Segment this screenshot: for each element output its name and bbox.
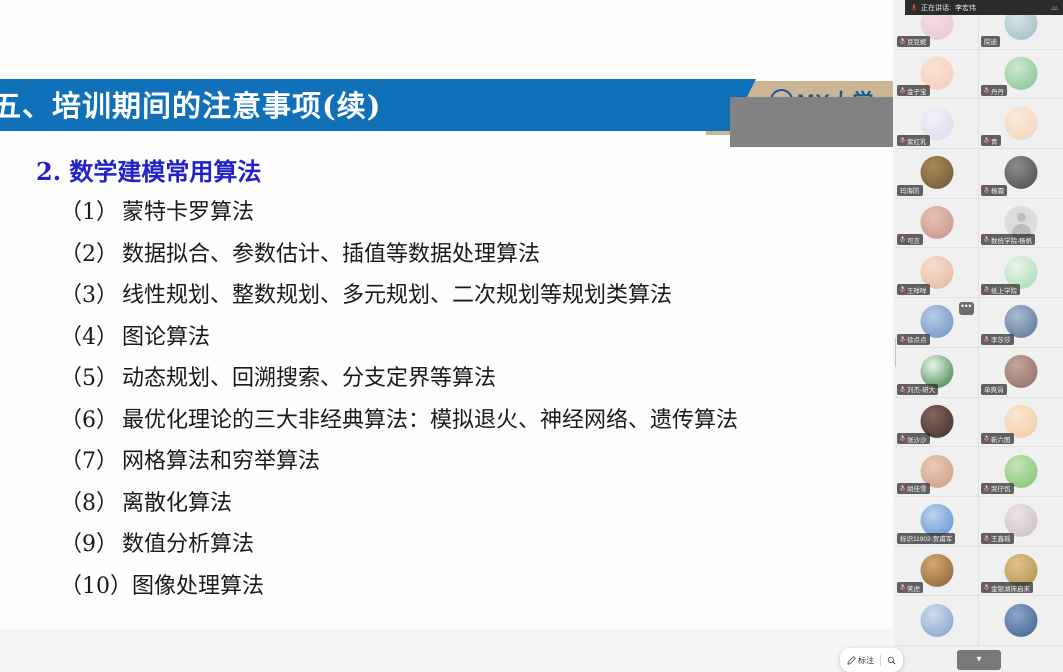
participant-name-badge: 徐点点: [897, 334, 930, 345]
slide-title-bar: 五、培训期间的注意事项(续): [0, 79, 730, 131]
participant-name: 院迪: [984, 36, 997, 46]
participant-name: 李莎莎: [991, 334, 1011, 344]
mic-muted-icon: [900, 236, 905, 243]
participant-name: 张沙沙: [907, 434, 927, 444]
mic-muted-icon: [984, 435, 989, 442]
algorithm-item: （9）数值分析算法: [60, 524, 880, 566]
participant-name: 单爽涓: [984, 384, 1004, 394]
algorithm-item: （5）动态规划、回溯搜索、分支定界等算法: [60, 358, 880, 400]
participant-name: 王鑫瑶: [991, 533, 1011, 543]
algorithm-item-text: 离散化算法: [122, 491, 232, 516]
participant-name-badge: 数统学院-杨帆: [981, 234, 1035, 245]
participant-name: 玛海防: [900, 185, 920, 195]
participant-tile[interactable]: 玛海防: [895, 149, 979, 199]
participant-tile[interactable]: 数统学院-杨帆: [979, 199, 1063, 249]
participant-name-badge: 单爽涓: [981, 384, 1007, 395]
participant-name-badge: 王鑫瑶: [981, 533, 1014, 544]
algorithm-item-number: （2）: [60, 234, 122, 276]
algorithm-item: （8）离散化算法: [60, 483, 880, 525]
participant-name-badge: 丹丹: [981, 85, 1007, 96]
sidebar-collapse-handle[interactable]: ›: [895, 338, 896, 367]
algorithm-item-text: 数值分析算法: [122, 532, 254, 557]
participant-name: 金子宝: [907, 86, 927, 96]
participant-name: 哭仔饥: [991, 483, 1011, 493]
section-heading: 2. 数学建模常用算法: [36, 152, 261, 187]
video-conference-screen: MY大学 五、培训期间的注意事项(续) 2. 数学建模常用算法 （1）蒙特卡罗算…: [0, 0, 1063, 672]
algorithm-item: （3）线性规划、整数规划、多元规划、二次规划等规划类算法: [60, 275, 880, 317]
avatar-image: [1005, 107, 1038, 140]
mic-muted-icon: [984, 485, 989, 492]
participant-tile[interactable]: [979, 596, 1063, 646]
algorithm-item: （7）网格算法和穷举算法: [60, 441, 880, 483]
participant-tile[interactable]: 靳六图: [979, 398, 1063, 448]
participant-name-badge: 紫红乳: [897, 135, 930, 146]
participant-tile[interactable]: 笑虎: [895, 547, 979, 597]
participant-tile[interactable]: 标识11902-贺甫军: [895, 497, 979, 547]
participant-tile[interactable]: 可言: [895, 199, 979, 249]
mic-muted-icon: [984, 535, 989, 542]
participant-name: 王咩咩: [907, 285, 927, 295]
algorithm-item-number: （8）: [60, 483, 122, 525]
participant-name-badge: 笑虎: [897, 582, 923, 593]
slide-float-toolbar[interactable]: 标注: [840, 648, 903, 672]
algorithm-item-text: 最优化理论的三大非经典算法：模拟退火、神经网络、遗传算法: [122, 408, 738, 433]
avatar-image: [1005, 355, 1038, 388]
participant-tile[interactable]: [895, 596, 979, 646]
participant-tile[interactable]: 金子宝: [895, 50, 979, 100]
mic-muted-icon: [984, 336, 989, 343]
participant-name-badge: 玛海防: [897, 185, 923, 196]
participant-name-badge: 院迪: [981, 36, 1000, 47]
avatar: [920, 156, 953, 189]
mic-muted-icon: [900, 87, 905, 94]
participant-name: 杨霜: [991, 185, 1004, 195]
participant-name: 丹丹: [991, 86, 1004, 96]
participant-name: 可言: [907, 235, 920, 245]
mic-muted-icon: [900, 435, 905, 442]
avatar: [1005, 355, 1038, 388]
avatar: [920, 554, 953, 587]
speaker-banner-name: 李宏伟: [955, 3, 976, 13]
avatar: [1005, 57, 1038, 90]
mic-muted-icon: [900, 485, 905, 492]
avatar: [920, 603, 953, 636]
avatar-image: [1005, 156, 1038, 189]
avatar-image: [920, 206, 953, 239]
algorithm-item-number: （3）: [60, 275, 122, 317]
participant-tile[interactable]: 胡佳雪: [895, 447, 979, 497]
algorithm-item: （6）最优化理论的三大非经典算法：模拟退火、神经网络、遗传算法: [60, 400, 880, 442]
algorithm-item-text: 网格算法和穷举算法: [122, 449, 320, 474]
participant-tile[interactable]: 李莎莎: [979, 298, 1063, 348]
participant-name-badge: 青: [981, 135, 1001, 146]
participant-name-badge: 杨霜: [981, 185, 1007, 196]
algorithm-item-text: 图论算法: [122, 325, 210, 350]
participant-name-badge: 王咩咩: [897, 284, 930, 295]
toolbar-divider: [880, 655, 881, 666]
algorithm-item: （10）图像处理算法: [60, 566, 880, 608]
participant-tile[interactable]: 单爽涓: [979, 348, 1063, 398]
participant-name-badge: 可言: [897, 234, 923, 245]
participant-tile[interactable]: 丹丹: [979, 50, 1063, 100]
participant-name-badge: 刘杰-研大: [897, 384, 938, 395]
ellipsis-icon[interactable]: •••: [959, 302, 974, 315]
participant-name-badge: 标识11902-贺甫军: [897, 533, 955, 544]
avatar: [1005, 156, 1038, 189]
participant-tile[interactable]: 青: [979, 99, 1063, 149]
participant-name: 胡佳雪: [907, 483, 927, 493]
participant-name: 靳六图: [991, 434, 1011, 444]
algorithm-item: （2）数据拟合、参数估计、插值等数据处理算法: [60, 234, 880, 276]
participant-name: 标识11902-贺甫军: [900, 533, 952, 543]
participant-name-badge: 李莎莎: [981, 334, 1014, 345]
participant-name: 紫红乳: [907, 136, 927, 146]
participant-name-badge: 胡佳雪: [897, 483, 930, 494]
page-title: 五、培训期间的注意事项(续): [0, 83, 381, 125]
participant-name-badge: 金银湖床启末: [981, 582, 1033, 593]
avatar-image: [1005, 603, 1038, 636]
participant-name-badge: 金子宝: [897, 85, 930, 96]
algorithm-list: （1）蒙特卡罗算法（2）数据拟合、参数估计、插值等数据处理算法（3）线性规划、整…: [60, 192, 880, 607]
algorithm-item-number: （6）: [60, 400, 122, 442]
zoom-button[interactable]: [887, 656, 896, 665]
algorithm-item-number: （9）: [60, 524, 122, 566]
avatar: [920, 206, 953, 239]
shared-screen-slide: MY大学 五、培训期间的注意事项(续) 2. 数学建模常用算法 （1）蒙特卡罗算…: [0, 0, 893, 629]
avatar-image: [920, 554, 953, 587]
avatar: [1005, 603, 1038, 636]
participant-tile[interactable]: 张沙沙: [895, 398, 979, 448]
avatar-image: [1005, 57, 1038, 90]
participant-name: 豆豆妮: [907, 36, 927, 46]
participant-tile[interactable]: 徐点点•••: [895, 298, 979, 348]
speaker-banner-label: 正在讲话:: [921, 3, 951, 13]
pen-icon: [847, 656, 856, 665]
magnifier-icon: [887, 656, 896, 665]
participant-name: 金银湖床启末: [991, 583, 1030, 593]
active-speaker-banner: 正在讲话: 李宏伟 ▵▵: [905, 0, 1063, 15]
mic-speaking-icon: [911, 4, 917, 12]
participant-name-badge: 靳六图: [981, 433, 1014, 444]
participant-tile[interactable]: 紫红乳: [895, 99, 979, 149]
algorithm-item-text: 数据拟合、参数估计、插值等数据处理算法: [122, 242, 540, 267]
participant-tile[interactable]: 金银湖床启末: [979, 547, 1063, 597]
avatar: [1005, 107, 1038, 140]
participant-tile[interactable]: 纸上学院: [979, 248, 1063, 298]
participant-tile[interactable]: 刘杰-研大: [895, 348, 979, 398]
algorithm-item-text: 线性规划、整数规划、多元规划、二次规划等规划类算法: [122, 283, 672, 308]
scroll-down-button[interactable]: ▾: [957, 650, 1001, 670]
participant-name: 徐点点: [907, 334, 927, 344]
participant-name: 刘杰-研大: [907, 384, 935, 394]
annotate-button[interactable]: 标注: [847, 655, 874, 666]
chevron-up-icon[interactable]: ▵▵: [1051, 4, 1057, 12]
participant-tile[interactable]: 哭仔饥: [979, 447, 1063, 497]
mic-muted-icon: [984, 286, 989, 293]
mic-muted-icon: [984, 187, 989, 194]
algorithm-item-number: （1）: [60, 192, 122, 234]
participant-name: 笑虎: [907, 583, 920, 593]
mic-muted-icon: [984, 584, 989, 591]
participant-name-badge: 张沙沙: [897, 433, 930, 444]
algorithm-item: （1）蒙特卡罗算法: [60, 192, 880, 234]
algorithm-item: （4）图论算法: [60, 317, 880, 359]
annotate-label: 标注: [858, 655, 874, 666]
algorithm-item-number: （10）: [60, 566, 132, 608]
privacy-overlay-box: [730, 97, 893, 147]
participant-sidebar: 正在讲话: 李宏伟 ▵▵ › 豆豆妮院迪金子宝丹丹紫红乳青玛海防杨霜可言数统学院…: [895, 0, 1063, 672]
mic-muted-icon: [900, 38, 905, 45]
participant-name: 纸上学院: [991, 285, 1017, 295]
participant-name: 青: [991, 136, 998, 146]
mic-muted-icon: [900, 286, 905, 293]
mic-muted-icon: [900, 336, 905, 343]
mic-muted-icon: [984, 236, 989, 243]
algorithm-item-number: （7）: [60, 441, 122, 483]
mic-muted-icon: [900, 584, 905, 591]
mic-muted-icon: [900, 386, 905, 393]
participant-tile[interactable]: 王咩咩: [895, 248, 979, 298]
algorithm-item-text: 图像处理算法: [132, 574, 264, 599]
algorithm-item-text: 蒙特卡罗算法: [122, 200, 254, 225]
participant-tile[interactable]: 杨霜: [979, 149, 1063, 199]
avatar-image: [920, 603, 953, 636]
mic-muted-icon: [984, 137, 989, 144]
mic-muted-icon: [984, 87, 989, 94]
algorithm-item-number: （5）: [60, 358, 122, 400]
participant-name: 数统学院-杨帆: [991, 235, 1032, 245]
algorithm-item-number: （4）: [60, 317, 122, 359]
participant-name-badge: 豆豆妮: [897, 36, 930, 47]
participant-tile-grid: 豆豆妮院迪金子宝丹丹紫红乳青玛海防杨霜可言数统学院-杨帆王咩咩纸上学院徐点点••…: [895, 0, 1063, 646]
participant-tile[interactable]: 王鑫瑶: [979, 497, 1063, 547]
avatar-image: [920, 156, 953, 189]
mic-muted-icon: [900, 137, 905, 144]
participant-name-badge: 哭仔饥: [981, 483, 1014, 494]
algorithm-item-text: 动态规划、回溯搜索、分支定界等算法: [122, 366, 496, 391]
participant-name-badge: 纸上学院: [981, 284, 1020, 295]
